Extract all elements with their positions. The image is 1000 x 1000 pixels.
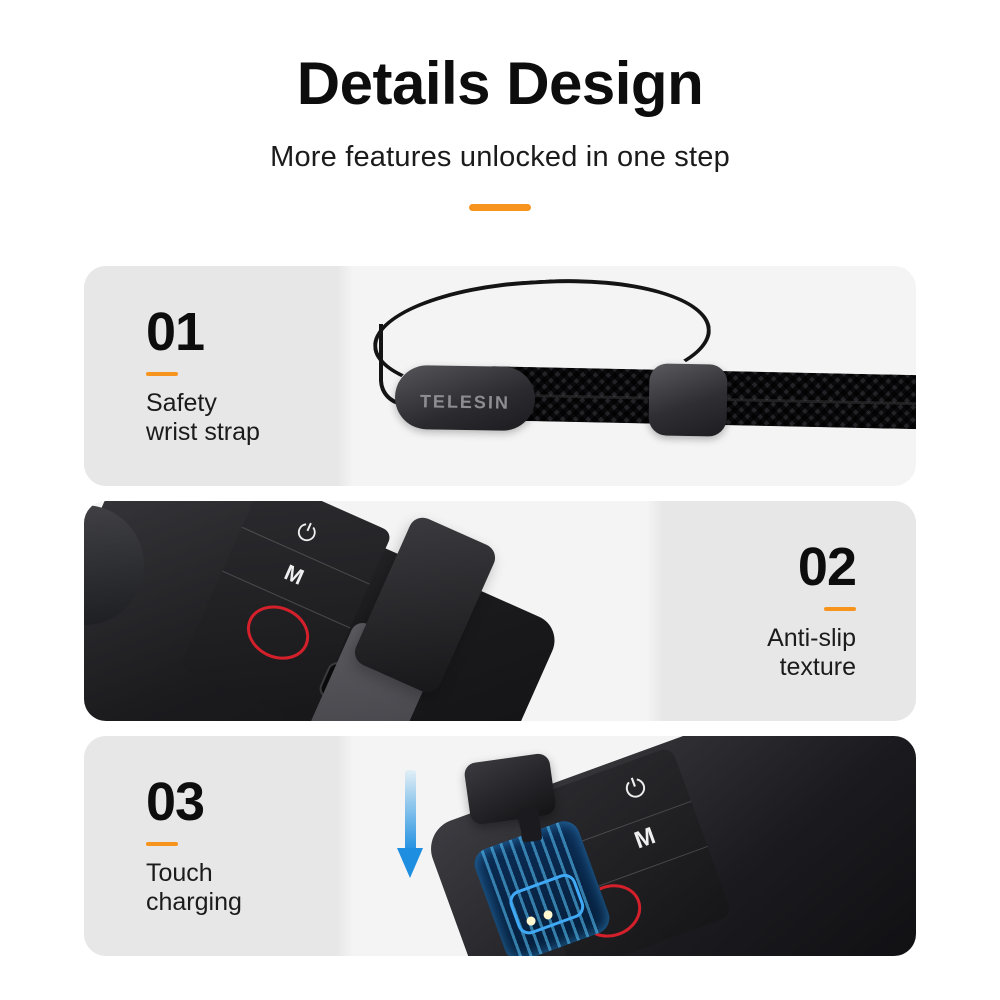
arrow-shaft: [405, 770, 416, 852]
feature-row-01[interactable]: TELESIN 01 Safety wrist strap: [84, 266, 916, 486]
feature-title: Anti-slip texture: [767, 624, 856, 683]
power-icon[interactable]: ⏻: [292, 517, 321, 550]
feature-title-line-1: Anti-slip: [767, 624, 856, 652]
feature-title-line-2: wrist strap: [146, 418, 260, 446]
arrow-head: [397, 848, 423, 878]
infographic-page: Details Design More features unlocked in…: [0, 0, 1000, 1000]
feature-label-01: 01 Safety wrist strap: [84, 266, 337, 486]
header-divider: [469, 204, 531, 211]
feature-row-02[interactable]: ⏻ M 02 Anti-slip texture: [84, 501, 916, 721]
feature-label-03: 03 Touch charging: [84, 736, 337, 956]
page-title: Details Design: [0, 52, 1000, 115]
brand-logo-text: TELESIN: [420, 391, 510, 414]
feature-title-line-2: charging: [146, 888, 242, 916]
page-header: Details Design More features unlocked in…: [0, 0, 1000, 211]
feature-title: Touch charging: [146, 859, 242, 918]
page-subtitle: More features unlocked in one step: [0, 141, 1000, 174]
mode-button-label[interactable]: M: [280, 559, 307, 590]
touch-charging-photo: ⏻ M: [337, 736, 916, 956]
feature-list: TELESIN 01 Safety wrist strap ⏻: [0, 266, 1000, 956]
feature-row-03[interactable]: ⏻ M 03 T: [84, 736, 916, 956]
feature-title-line-1: Touch: [146, 859, 213, 887]
strap-end-cap: TELESIN: [394, 365, 535, 431]
feature-number: 02: [798, 540, 856, 594]
mode-button-label[interactable]: M: [631, 822, 659, 855]
feature-title-line-1: Safety: [146, 389, 217, 417]
feature-title: Safety wrist strap: [146, 389, 260, 448]
wrist-strap-photo: TELESIN: [337, 266, 916, 486]
feature-divider: [146, 842, 178, 846]
anti-slip-grip-photo: ⏻ M: [84, 501, 663, 721]
feature-number: 03: [146, 775, 204, 829]
feature-divider: [146, 372, 178, 376]
insert-direction-arrow-icon: [397, 770, 423, 890]
feature-number: 01: [146, 305, 204, 359]
power-icon[interactable]: ⏻: [621, 770, 651, 807]
feature-title-line-2: texture: [780, 653, 856, 681]
feature-divider: [824, 607, 856, 611]
strap-slider-bead: [648, 363, 727, 436]
feature-label-02: 02 Anti-slip texture: [663, 501, 916, 721]
charging-connector-tab: [463, 752, 557, 825]
